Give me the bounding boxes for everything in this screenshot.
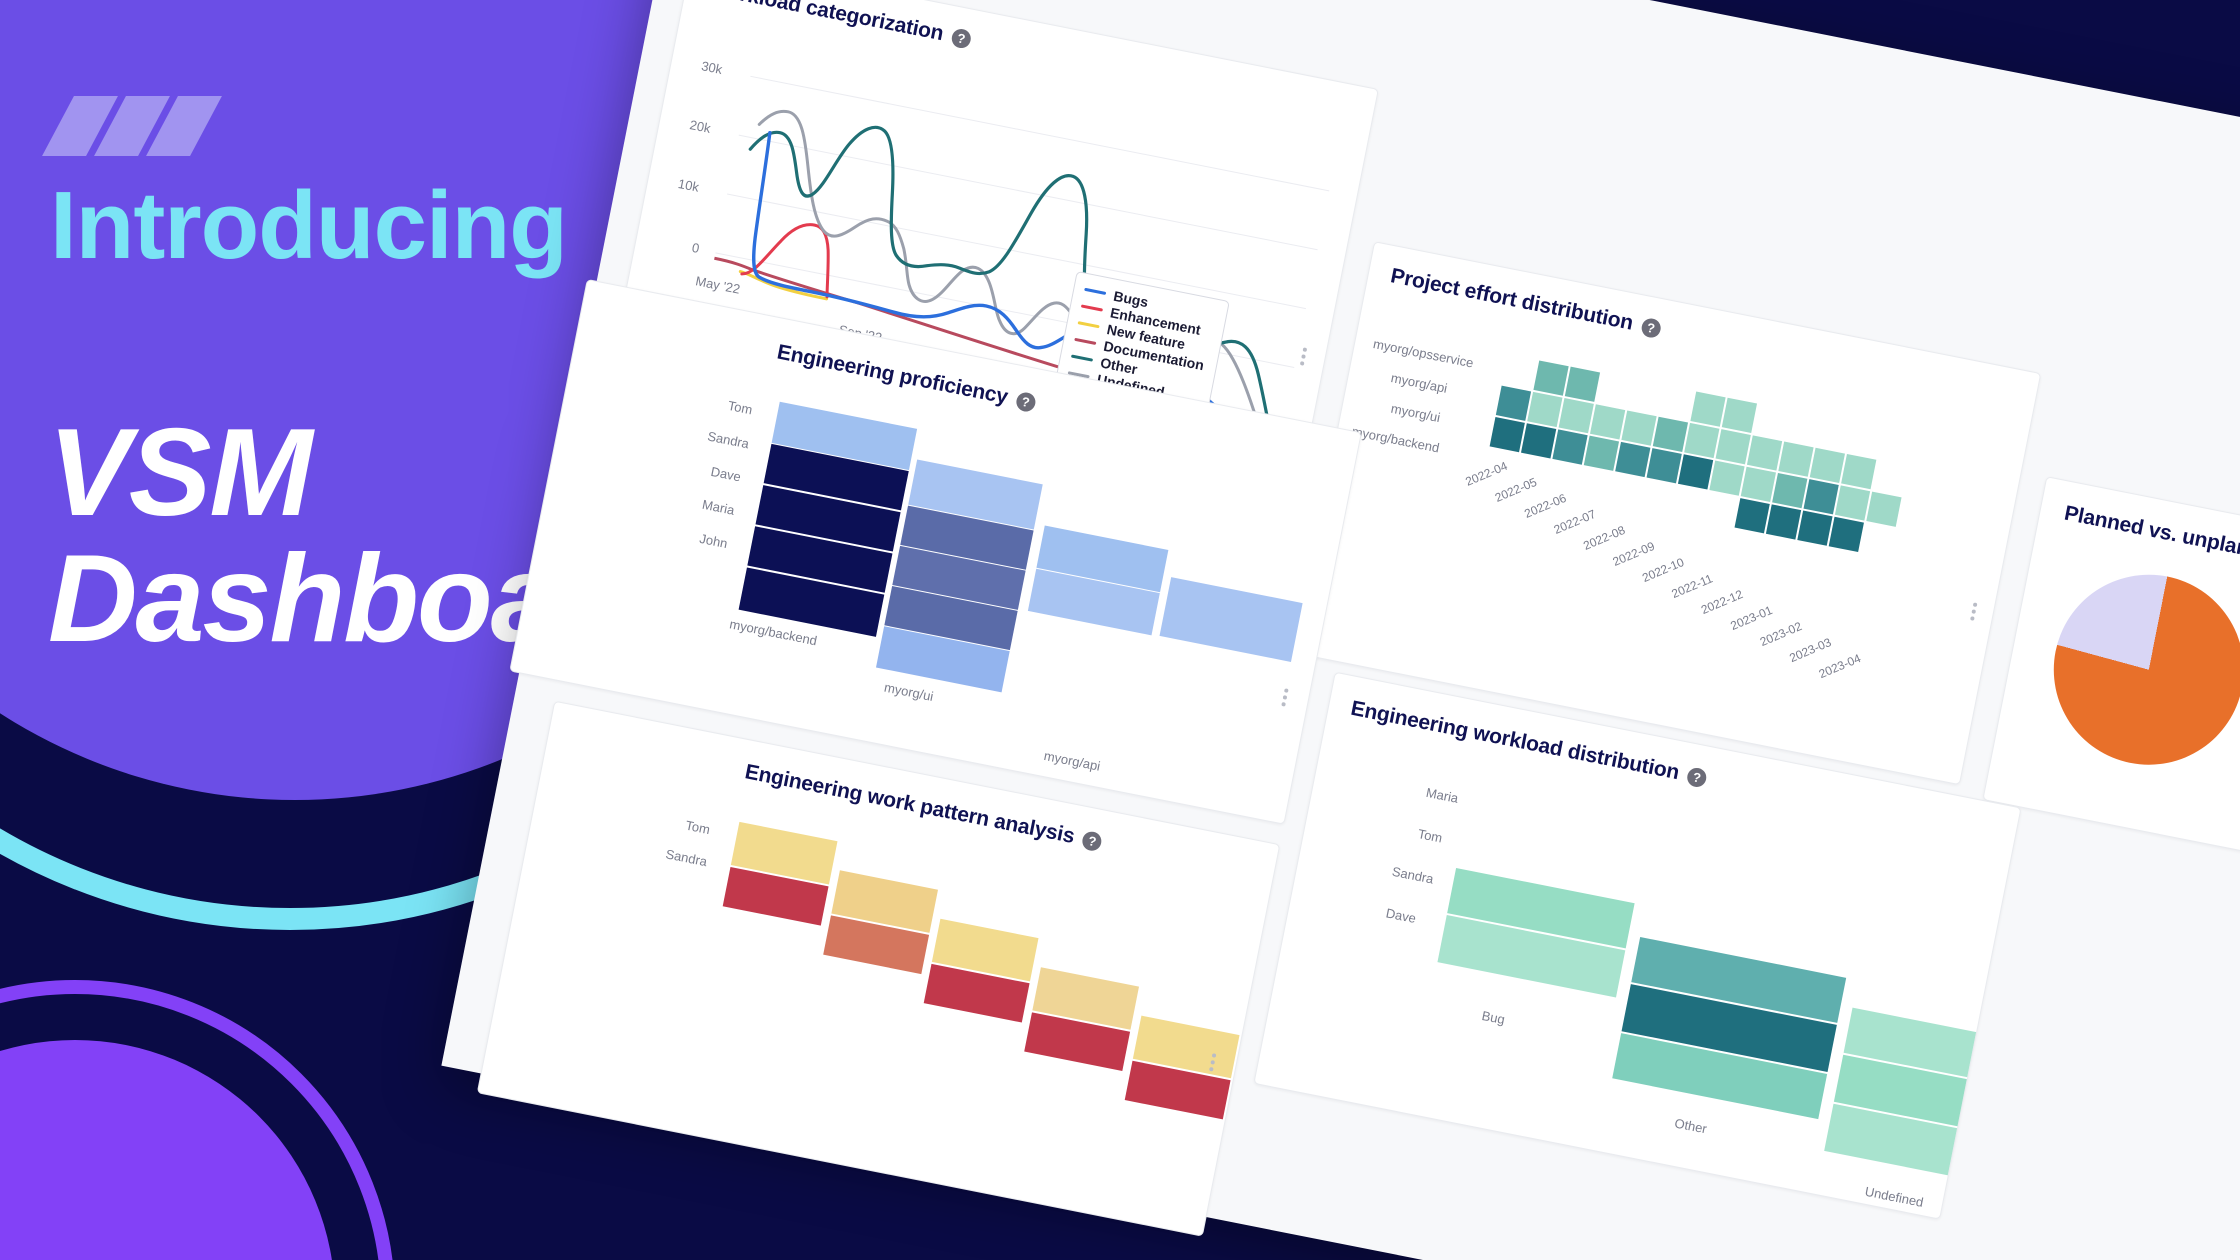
heatmap-cell[interactable] xyxy=(1810,448,1845,483)
heatmap-cell[interactable] xyxy=(1829,517,1864,552)
bar-row-label: Maria xyxy=(701,497,736,518)
heatmap-cell[interactable] xyxy=(1490,417,1525,452)
heatmap-cell[interactable] xyxy=(1835,485,1870,520)
bar-column-c3 xyxy=(924,919,1039,1023)
heatmap-cell[interactable] xyxy=(1552,429,1587,464)
bar-row-label: Dave xyxy=(1385,905,1418,926)
bar-category-label: Other xyxy=(1673,1115,1708,1136)
help-icon[interactable]: ? xyxy=(950,27,972,49)
card-title-text: Workload categorization xyxy=(707,0,946,45)
heatmap-cell[interactable] xyxy=(1678,454,1713,489)
bar-category-label: Undefined xyxy=(1864,1184,1925,1210)
heatmap-cell[interactable] xyxy=(1841,454,1876,489)
bar-row-label: Sandra xyxy=(664,846,708,869)
heatmap-column-label: 2023-02 xyxy=(1758,619,1804,649)
heatmap-row-label: myorg/api xyxy=(1390,370,1449,396)
legend-swatch-new-feature xyxy=(1078,321,1100,328)
heatmap-cell[interactable] xyxy=(1690,392,1725,427)
heatmap-cell[interactable] xyxy=(1521,423,1556,458)
card-menu-button[interactable] xyxy=(1281,685,1291,710)
card-title-planned-vs-unplanned: Planned vs. unplanned xyxy=(2062,502,2240,569)
heatmap-column-label: 2022-04 xyxy=(1463,459,1509,489)
heatmap-cell[interactable] xyxy=(1735,498,1770,533)
heatmap-row-label: myorg/ui xyxy=(1390,401,1442,425)
card-menu-button[interactable] xyxy=(1969,599,1979,624)
legend-swatch-enhancement xyxy=(1081,304,1103,311)
bar-column-opsservice xyxy=(1159,577,1302,664)
heatmap-column-label: 2022-11 xyxy=(1670,571,1715,601)
bar-row-label: Tom xyxy=(727,398,754,417)
heatmap-cell[interactable] xyxy=(1741,467,1776,502)
heatmap-cell[interactable] xyxy=(1647,448,1682,483)
heatmap-column-label: 2022-09 xyxy=(1611,539,1657,569)
heatmap-cell[interactable] xyxy=(1684,423,1719,458)
card-title-workload-categorization: Workload categorization? xyxy=(706,0,972,52)
dashboard-screenshot: Workload categorization? 30k 20k 10k 0 M… xyxy=(437,0,2240,1260)
heatmap-cell[interactable] xyxy=(1778,442,1813,477)
heatmap-cell[interactable] xyxy=(1496,386,1531,421)
heatmap-cell[interactable] xyxy=(1590,404,1625,439)
legend-swatch-documentation xyxy=(1074,338,1096,345)
heatmap-column-label: 2022-10 xyxy=(1640,555,1686,585)
heatmap-column-label: 2023-01 xyxy=(1728,603,1774,633)
bar-row-label: John xyxy=(698,531,729,551)
bar-row-label: Tom xyxy=(1417,826,1444,845)
heatmap-column-label: 2022-12 xyxy=(1699,587,1745,617)
heatmap-cell[interactable] xyxy=(1772,473,1807,508)
bar-row-label: Maria xyxy=(1425,785,1460,806)
y-tick-label: 0 xyxy=(691,240,701,256)
y-tick-label: 30k xyxy=(700,58,723,77)
bar-row-label: Dave xyxy=(710,464,743,485)
heatmap-cell[interactable] xyxy=(1527,392,1562,427)
heatmap-cell[interactable] xyxy=(1722,398,1757,433)
bar-column-bug xyxy=(1437,868,1634,998)
help-icon[interactable]: ? xyxy=(1686,766,1708,788)
heatmap-column-label: 2022-06 xyxy=(1522,491,1568,521)
heatmap-cell[interactable] xyxy=(1804,479,1839,514)
heatmap-cell[interactable] xyxy=(1716,429,1751,464)
heatmap-cell[interactable] xyxy=(1653,417,1688,452)
bar-column-other xyxy=(1612,937,1846,1119)
bar-category-label: myorg/ui xyxy=(883,680,935,704)
heatmap-cell[interactable] xyxy=(1565,367,1600,402)
heatmap-row-label: myorg/backend xyxy=(1351,424,1441,456)
help-icon[interactable]: ? xyxy=(1014,391,1036,413)
heatmap-cell[interactable] xyxy=(1615,442,1650,477)
bar-segment xyxy=(1160,577,1303,662)
bar-row-label: Sandra xyxy=(1391,864,1435,887)
bar-row-label: Sandra xyxy=(706,429,750,452)
legend-swatch-other xyxy=(1071,354,1093,361)
y-tick-label: 20k xyxy=(688,117,711,136)
heatmap-cell[interactable] xyxy=(1621,410,1656,445)
bar-column-c5 xyxy=(1125,1016,1240,1120)
heatmap-column-label: 2022-08 xyxy=(1581,523,1627,553)
heatmap-cell[interactable] xyxy=(1584,436,1619,471)
hero-title-line1: VSM xyxy=(48,404,311,542)
bar-column-api xyxy=(1028,526,1169,637)
heatmap-column-label: 2023-03 xyxy=(1787,635,1833,665)
heatmap-cell[interactable] xyxy=(1559,398,1594,433)
hero-eyebrow: Introducing xyxy=(50,178,567,274)
help-icon[interactable]: ? xyxy=(1640,317,1662,339)
help-icon[interactable]: ? xyxy=(1081,830,1103,852)
heatmap-cell[interactable] xyxy=(1533,360,1568,395)
heatmap-cell[interactable] xyxy=(1866,492,1901,527)
heatmap-column-label: 2022-07 xyxy=(1552,507,1598,537)
legend-swatch-bugs xyxy=(1084,288,1106,295)
bar-category-label: myorg/api xyxy=(1043,748,1102,774)
bar-column-c1 xyxy=(723,822,838,926)
heatmap-row-label: myorg/opsservice xyxy=(1372,336,1475,371)
bar-column-c2 xyxy=(823,870,938,974)
y-tick-label: 10k xyxy=(677,176,700,195)
heatmap-cell[interactable] xyxy=(1797,511,1832,546)
bar-row-label: Tom xyxy=(684,818,711,837)
three-slashes-logo-icon xyxy=(48,96,228,156)
card-title-text: Planned vs. unplanned xyxy=(2062,502,2240,568)
bar-column-c4 xyxy=(1024,967,1139,1071)
bar-category-label: Bug xyxy=(1481,1008,1507,1027)
pie-chart xyxy=(2037,558,2240,781)
heatmap-cell[interactable] xyxy=(1766,504,1801,539)
heatmap-column-label: 2023-04 xyxy=(1817,651,1863,681)
heatmap-column-label: 2022-05 xyxy=(1493,475,1539,505)
heatmap-cell[interactable] xyxy=(1747,435,1782,470)
heatmap-cell[interactable] xyxy=(1709,461,1744,496)
